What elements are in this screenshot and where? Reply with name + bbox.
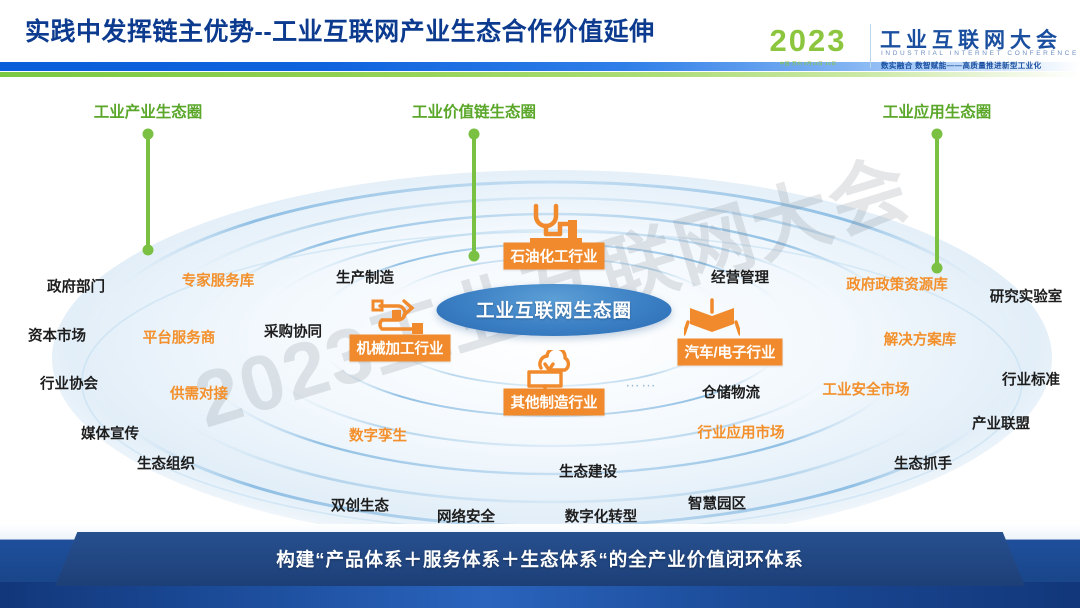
callout-dot-top [932,129,943,140]
label-media-promo: 媒体宣传 [81,423,139,444]
label-eco-construction: 生态建设 [559,461,617,482]
workflow-icon [368,298,430,334]
label-research-lab: 研究实验室 [990,286,1063,307]
label-supply-demand: 供需对接 [170,383,228,404]
label-procurement: 采购协同 [264,321,322,342]
callout-line [146,134,150,250]
callout-dot-bottom [932,263,943,274]
label-eco-organization: 生态组织 [137,453,195,474]
label-smart-park: 智慧园区 [688,493,746,514]
label-industrial-safety: 工业安全市场 [823,379,910,400]
callout-label: 工业价值链生态圈 [412,100,536,122]
callout-dot-bottom [143,245,154,256]
footer-text: 构建“产品体系＋服务体系＋生态体系“的全产业价值闭环体系 [276,546,804,572]
label-warehouse-logi: 仓储物流 [702,382,760,403]
logo-year: 2023 [752,24,864,58]
label-solution-library: 解决方案库 [884,329,957,350]
label-industry-alliance: 产业联盟 [972,413,1030,434]
logo-divider [870,24,871,68]
chip-petrochemical[interactable]: 石油化工行业 [504,243,605,270]
chip-auto-electronic[interactable]: 汽车/电子行业 [677,339,782,366]
label-digital-twin: 数字孪生 [349,425,407,446]
page-title: 实践中发挥链主优势--工业互联网产业生态合作价值延伸 [25,12,655,48]
car-icon [684,298,740,336]
callout-label: 工业产业生态圈 [94,100,203,122]
callout-dot-top [469,129,480,140]
label-industry-standard: 行业标准 [1002,369,1060,390]
slide-header: 实践中发挥链主优势--工业互联网产业生态合作价值延伸 2023 中国·苏州 9月… [0,0,1080,82]
slide-footer: 构建“产品体系＋服务体系＋生态体系“的全产业价值闭环体系 [0,524,1080,608]
logo-subtitle: 数实融合 数智赋能——高质量推进新型工业化 [881,60,1041,71]
label-industry-assoc: 行业协会 [40,373,98,394]
chip-other-manufacturing[interactable]: 其他制造行业 [504,389,605,416]
label-policy-resource: 政府政策资源库 [846,274,948,295]
callout-label: 工业应用生态圈 [883,100,992,122]
callout-dot-top [143,129,154,140]
label-innovation-eco: 双创生态 [331,495,389,516]
callout-line [935,134,939,268]
logo-name-en: INDUSTRIAL INTERNET CONFERENCE [881,50,1079,57]
label-platform-provider: 平台服务商 [143,327,216,348]
core-ecosystem-ellipse: 工业互联网生态圈 [437,284,672,336]
callout-line [472,134,476,256]
chip-machining[interactable]: 机械加工行业 [350,335,451,362]
label-expert-library: 专家服务库 [182,270,255,291]
refinery-icon [524,200,584,244]
slide-canvas: 实践中发挥链主优势--工业互联网产业生态合作价值延伸 2023 中国·苏州 9月… [0,0,1080,608]
logo-date: 中国·苏州 9月14日-16日 [755,60,861,67]
label-industry-app-mkt: 行业应用市场 [698,422,785,443]
label-eco-handle: 生态抓手 [894,453,952,474]
label-government-dept: 政府部门 [47,276,105,297]
label-capital-market: 资本市场 [28,325,86,346]
core-label: 工业互联网生态圈 [476,297,632,323]
conference-logo: 2023 中国·苏州 9月14日-16日 工业互联网大会 INDUSTRIAL … [752,22,1072,78]
label-ellipsis: …… [625,374,657,391]
callout-dot-bottom [469,251,480,262]
ecosystem-diagram: 2023工业互联网大会 工业产业生态圈 工业价值链生态圈 工业应用生态圈 政府部… [0,82,1080,542]
label-production: 生产制造 [336,267,394,288]
cloud-pc-icon [521,350,577,394]
footer-banner-plate: 构建“产品体系＋服务体系＋生态体系“的全产业价值闭环体系 [55,532,1025,586]
label-operations-mgmt: 经营管理 [711,267,769,288]
